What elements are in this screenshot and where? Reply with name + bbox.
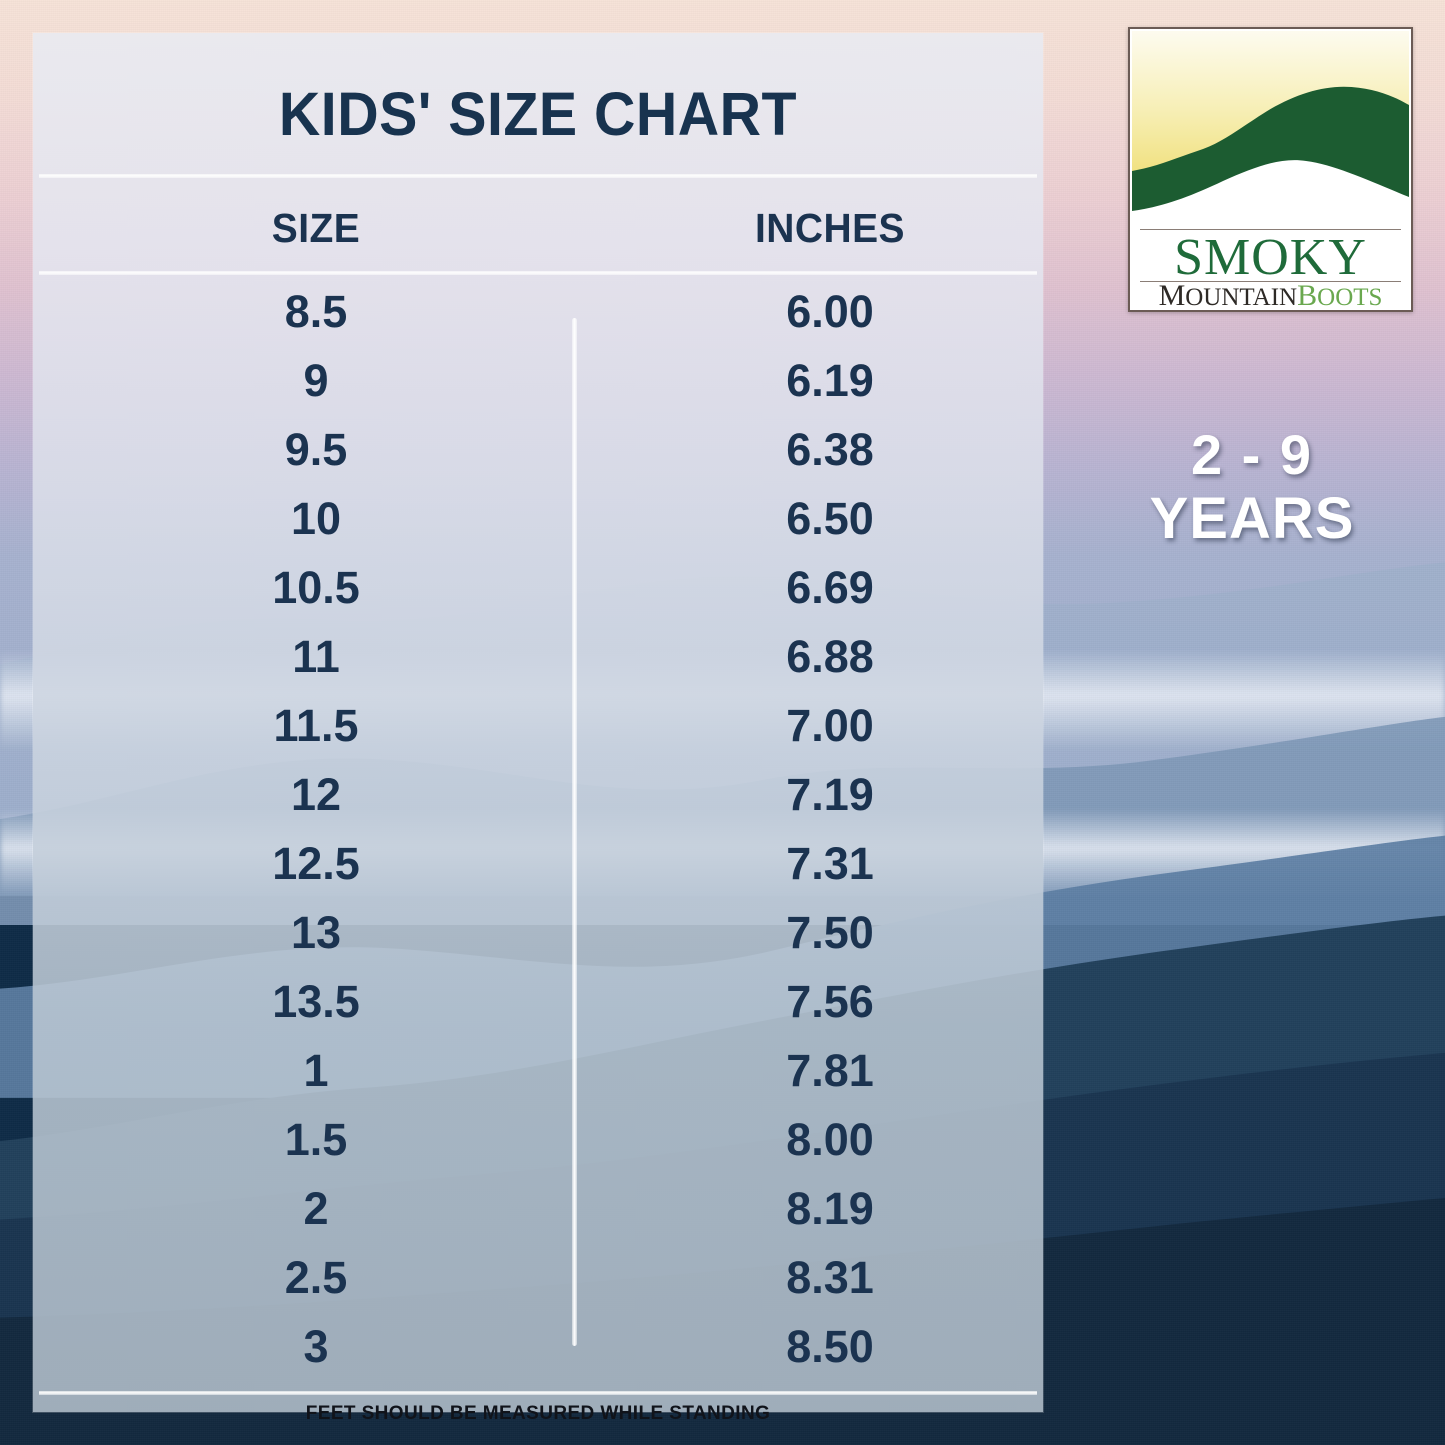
logo-tagline-boots: BOOTS	[1297, 281, 1382, 311]
table-row: 1.58.00	[33, 1105, 1043, 1174]
cell-inches: 8.00	[710, 1105, 950, 1174]
logo-tagline: MOUNTAINBOOTS	[1130, 281, 1411, 311]
table-row: 127.19	[33, 760, 1043, 829]
cell-inches: 6.38	[710, 415, 950, 484]
cell-inches: 7.31	[710, 829, 950, 898]
size-table-body: 8.56.0096.199.56.38106.5010.56.69116.881…	[33, 277, 1043, 1381]
cell-inches: 7.81	[710, 1036, 950, 1105]
table-row: 106.50	[33, 484, 1043, 553]
cell-inches: 6.88	[710, 622, 950, 691]
cell-size: 10	[196, 484, 436, 553]
cell-size: 1	[196, 1036, 436, 1105]
table-row: 28.19	[33, 1174, 1043, 1243]
cell-size: 2.5	[196, 1243, 436, 1312]
table-row: 2.58.31	[33, 1243, 1043, 1312]
age-range-unit: YEARS	[1082, 487, 1422, 552]
measurement-note: FEET SHOULD BE MEASURED WHILE STANDING	[33, 1403, 1043, 1425]
cell-inches: 8.50	[710, 1312, 950, 1381]
cell-size: 13.5	[196, 967, 436, 1036]
cell-size: 1.5	[196, 1105, 436, 1174]
cell-size: 8.5	[196, 277, 436, 346]
cell-inches: 6.00	[710, 277, 950, 346]
cell-size: 13	[196, 898, 436, 967]
page-title: KIDS' SIZE CHART	[63, 79, 1012, 149]
logo-tagline-mountain: MOUNTAIN	[1159, 281, 1298, 311]
age-range-badge: 2 - 9 YEARS	[1082, 424, 1422, 552]
cell-size: 9.5	[196, 415, 436, 484]
cell-inches: 7.56	[710, 967, 950, 1036]
cell-inches: 6.19	[710, 346, 950, 415]
table-row: 11.57.00	[33, 691, 1043, 760]
cell-size: 10.5	[196, 553, 436, 622]
table-row: 38.50	[33, 1312, 1043, 1381]
cell-size: 12.5	[196, 829, 436, 898]
cell-size: 12	[196, 760, 436, 829]
table-row: 96.19	[33, 346, 1043, 415]
table-row: 9.56.38	[33, 415, 1043, 484]
divider-below-title	[39, 174, 1037, 178]
cell-size: 11.5	[196, 691, 436, 760]
cell-size: 11	[196, 622, 436, 691]
cell-size: 9	[196, 346, 436, 415]
size-chart-graphic: KIDS' SIZE CHART SIZE INCHES 8.56.0096.1…	[0, 0, 1445, 1445]
table-row: 116.88	[33, 622, 1043, 691]
cell-inches: 7.00	[710, 691, 950, 760]
table-row: 13.57.56	[33, 967, 1043, 1036]
column-header-size: SIZE	[202, 205, 430, 252]
divider-below-headers	[39, 271, 1037, 275]
cell-size: 3	[196, 1312, 436, 1381]
cell-inches: 8.19	[710, 1174, 950, 1243]
cell-inches: 7.19	[710, 760, 950, 829]
logo-brand-name-text: SMOKY	[1174, 232, 1367, 284]
size-chart-card: KIDS' SIZE CHART SIZE INCHES 8.56.0096.1…	[33, 33, 1043, 1412]
table-row: 17.81	[33, 1036, 1043, 1105]
table-row: 137.50	[33, 898, 1043, 967]
mountain-logo-icon	[1132, 31, 1409, 227]
cell-inches: 6.69	[710, 553, 950, 622]
cell-size: 2	[196, 1174, 436, 1243]
table-row: 10.56.69	[33, 553, 1043, 622]
column-header-inches: INCHES	[716, 205, 944, 252]
brand-logo: SMOKY MOUNTAINBOOTS	[1128, 27, 1413, 312]
divider-above-footnote	[39, 1391, 1037, 1395]
table-row: 8.56.00	[33, 277, 1043, 346]
table-row: 12.57.31	[33, 829, 1043, 898]
age-range-numbers: 2 - 9	[1082, 424, 1422, 487]
table-header-row: SIZE INCHES	[33, 205, 1043, 261]
cell-inches: 7.50	[710, 898, 950, 967]
cell-inches: 8.31	[710, 1243, 950, 1312]
cell-inches: 6.50	[710, 484, 950, 553]
